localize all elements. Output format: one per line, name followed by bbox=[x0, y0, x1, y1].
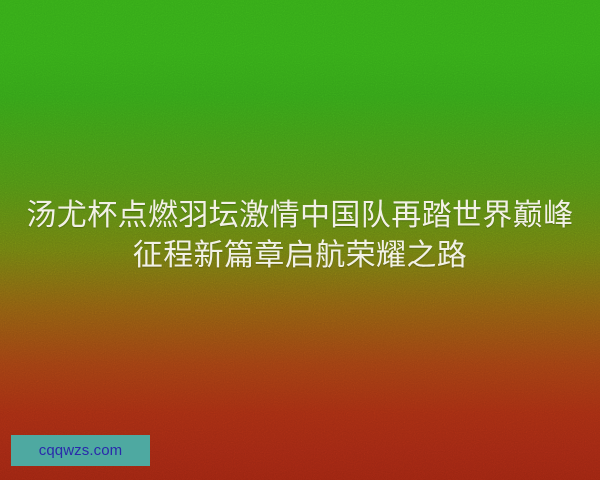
page-title: 汤尤杯点燃羽坛激情中国队再踏世界巅峰 征程新篇章启航荣耀之路 bbox=[0, 196, 600, 276]
title-line-1: 汤尤杯点燃羽坛激情中国队再踏世界巅峰 bbox=[14, 196, 586, 236]
title-line-2: 征程新篇章启航荣耀之路 bbox=[14, 236, 586, 276]
watermark-label: cqqwzs.com bbox=[39, 443, 123, 458]
promo-banner: 汤尤杯点燃羽坛激情中国队再踏世界巅峰 征程新篇章启航荣耀之路 cqqwzs.co… bbox=[0, 0, 600, 480]
watermark-badge[interactable]: cqqwzs.com bbox=[11, 435, 150, 466]
